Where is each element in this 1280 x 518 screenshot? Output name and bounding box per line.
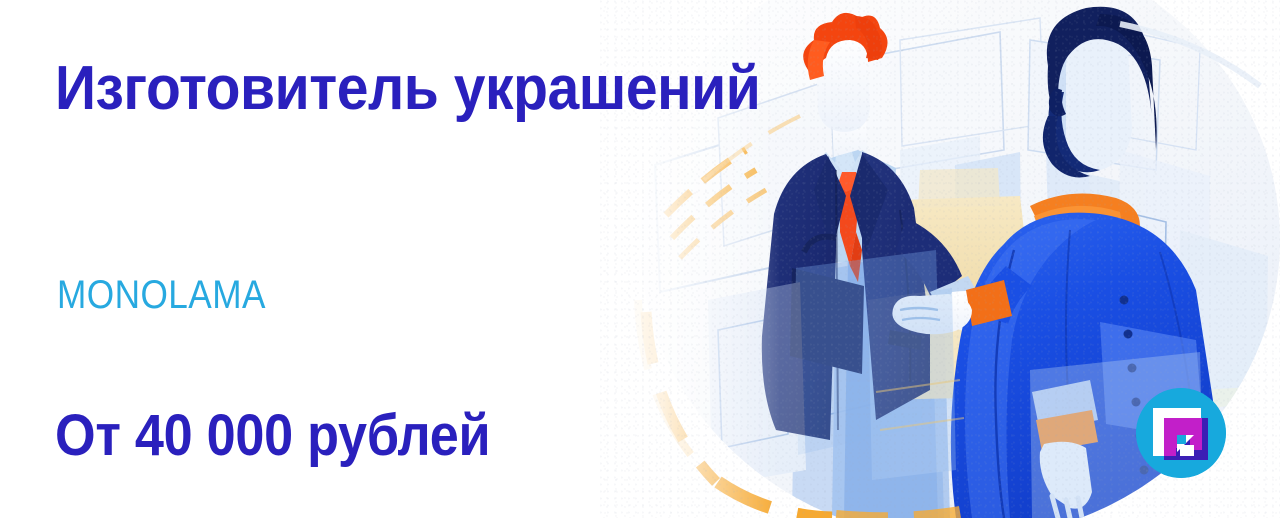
text-column: Изготовитель украшений MONOLAMA От 40 00… (0, 0, 660, 518)
brand-name: MONOLAMA (57, 275, 266, 315)
logo-mark-notch (1177, 435, 1186, 444)
page-title: Изготовитель украшений (55, 57, 644, 121)
monolama-logo[interactable] (1136, 388, 1226, 478)
price-label: От 40 000 рублей (55, 407, 490, 465)
promo-banner: Изготовитель украшений MONOLAMA От 40 00… (0, 0, 1280, 518)
